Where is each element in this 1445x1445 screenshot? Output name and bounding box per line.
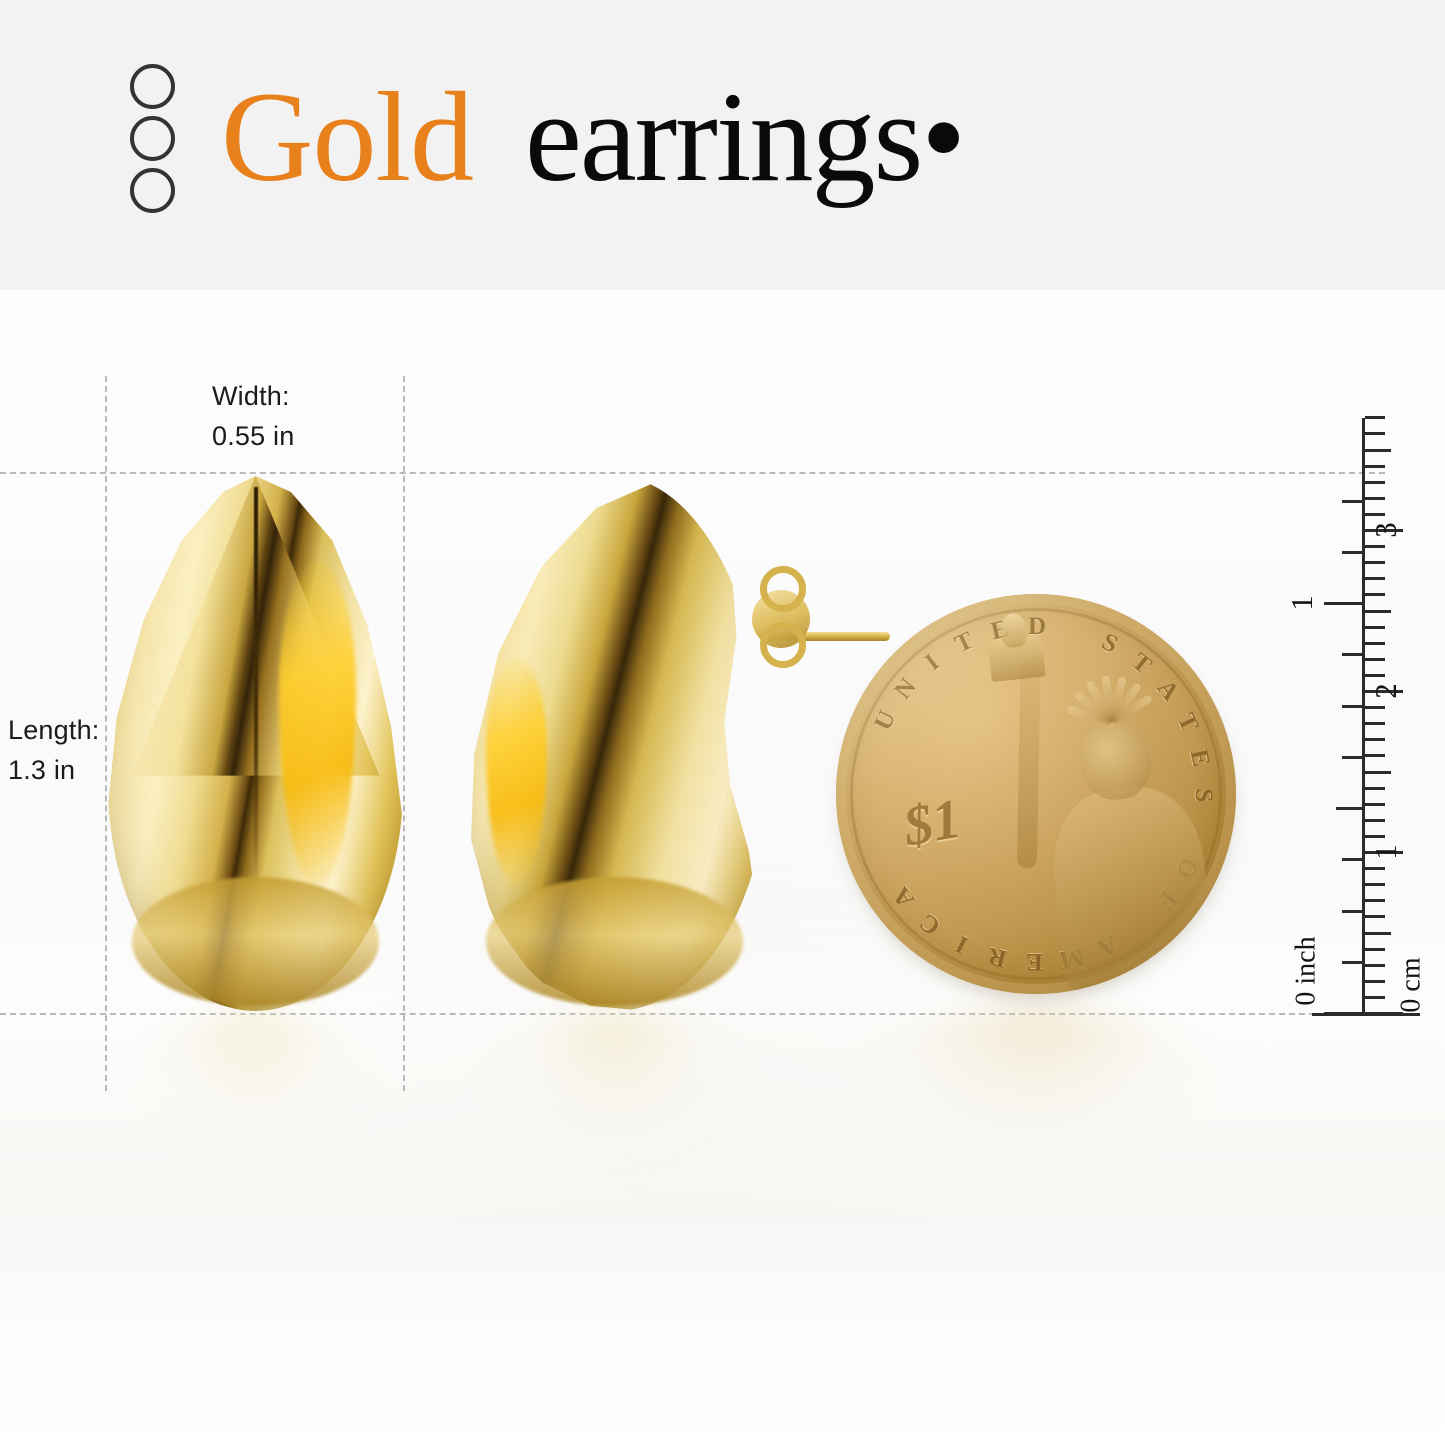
ruler-tick [1365,465,1385,468]
measurement-ruler: 11230 inch0 cm [1300,400,1445,1040]
circle-icon [130,116,175,161]
header-banner: Gold earrings• [0,0,1445,290]
gold-teardrop-earring-side [462,476,767,1011]
measure-guide-vertical-right [403,376,405,1091]
ruler-label: 2 [1368,683,1404,699]
width-dimension-label: Width: 0.55 in [212,376,294,456]
earring-reflection [125,1010,380,1160]
coin-legend-char: U [869,707,902,736]
ruler-tick [1365,626,1385,629]
ruler-tick [1365,932,1391,935]
ruler-tick [1365,416,1385,419]
coin-legend-char: I [920,649,945,677]
ruler-tick [1365,658,1385,661]
statue-of-liberty-relief [956,605,1229,1000]
earring-base-shading [486,877,742,1005]
ruler-tick [1365,706,1385,709]
coin-legend-char: I [952,929,973,958]
ruler-tick [1365,513,1385,516]
ruler-tick [1365,867,1385,870]
product-infographic: Gold earrings• Width: 0.55 in Length: 1.… [0,0,1445,1445]
earring-base-shading [132,877,380,1005]
ruler-tick [1365,577,1385,580]
header-content: Gold earrings• [130,60,964,213]
length-label-text: Length: [8,710,99,750]
gold-teardrop-earring-front [108,476,403,1011]
ruler-tick [1365,722,1385,725]
coin-denomination: $1 [899,787,965,860]
ruler-tick [1342,551,1362,554]
ruler-tick [1365,980,1385,983]
circle-icon [130,64,175,109]
width-label-text: Width: [212,376,294,416]
ruler-tick [1365,819,1385,822]
ruler-tick [1365,754,1385,757]
three-circles-icon [130,64,175,213]
ruler-tick [1365,432,1385,435]
title-rest: earrings• [525,73,964,201]
earring-reflection [478,1010,753,1165]
ruler-inch-unit-label: 0 inch [1291,936,1323,1005]
title-highlight: Gold [221,73,473,201]
circle-icon [130,168,175,213]
ruler-tick [1365,835,1385,838]
liberty-arm [1017,658,1041,868]
ruler-tick [1324,602,1362,605]
ruler-tick [1365,964,1385,967]
ruler-tick [1342,858,1362,861]
coin-legend-char: C [915,907,947,940]
page-title: Gold earrings• [221,73,964,201]
length-value-text: 1.3 in [8,750,99,790]
ruler-tick [1365,915,1385,918]
earring-highlight [279,562,356,883]
width-value-text: 0.55 in [212,416,294,456]
ruler-tick [1365,545,1385,548]
footer-caption-bar: Material copper, exquisite polishing pro… [0,1220,1445,1445]
length-dimension-label: Length: 1.3 in [8,710,99,790]
ruler-tick [1365,787,1385,790]
butterfly-ring-icon [760,566,806,612]
coin-reflection [852,1005,1222,1155]
measure-guide-horizontal-top [0,472,1385,474]
ruler-tick [1365,674,1385,677]
earring-seam [254,487,259,883]
ruler-tick [1365,449,1391,452]
ruler-tick [1342,500,1362,503]
ruler-tick [1365,610,1391,613]
ruler-tick [1324,1012,1362,1015]
coin-legend-char: N [889,673,922,705]
ruler-tick [1365,771,1391,774]
coin-legend-char: A [888,881,921,912]
ruler-tick [1365,738,1385,741]
ruler-tick [1365,561,1385,564]
ruler-tick [1342,910,1362,913]
us-one-dollar-coin: UNITEDSTATESOFAMERICA $1 [816,574,1256,1014]
ruler-label: 3 [1368,522,1404,538]
ruler-label: 1 [1368,844,1404,860]
ruler-tick [1365,948,1385,951]
ruler-tick [1365,883,1385,886]
ruler-tick [1365,642,1385,645]
ruler-tick [1342,756,1362,759]
ruler-label: 1 [1284,595,1320,611]
ruler-tick [1365,593,1385,596]
ruler-cm-unit-label: 0 cm [1396,957,1428,1012]
ruler-tick [1342,961,1362,964]
ruler-tick [1342,653,1362,656]
ruler-tick [1336,807,1362,810]
ruler-tick [1365,497,1385,500]
butterfly-ring-icon [760,622,806,668]
ruler-tick [1365,803,1385,806]
ruler-spine [1362,418,1365,1016]
ruler-tick [1365,899,1385,902]
ruler-tick [1342,705,1362,708]
measure-guide-vertical-left [105,376,107,1091]
ruler-tick [1365,996,1385,999]
liberty-robe [1046,781,1216,996]
ruler-tick [1365,481,1385,484]
